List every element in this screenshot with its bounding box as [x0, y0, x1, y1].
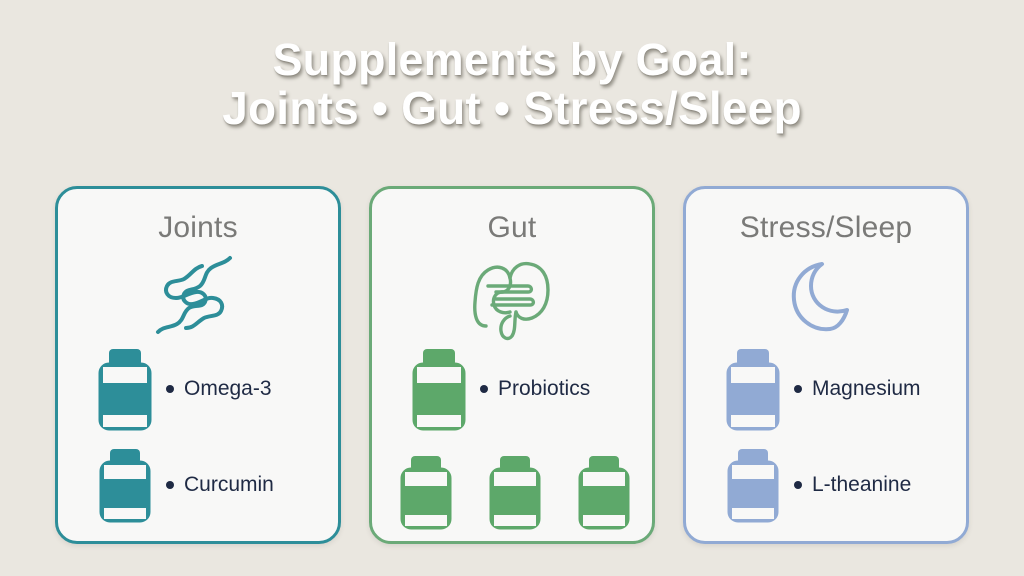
- supplement-bottle-small: [487, 454, 543, 535]
- list-item[interactable]: Probiotics: [404, 341, 630, 437]
- goal-card-gut[interactable]: Gut: [369, 186, 655, 544]
- page-title-line-2: Joints • Gut • Stress/Sleep: [0, 84, 1024, 133]
- goal-cards-row: Joints Omega-3: [0, 186, 1024, 546]
- supplement-label: Probiotics: [480, 377, 590, 401]
- page-title: Supplements by Goal: Joints • Gut • Stre…: [0, 36, 1024, 132]
- supplement-label: Curcumin: [166, 473, 274, 497]
- supplement-name: Omega-3: [184, 377, 272, 401]
- intestine-icon: [372, 251, 652, 343]
- list-item[interactable]: Omega-3: [90, 341, 316, 437]
- page-title-line-1: Supplements by Goal:: [0, 36, 1024, 84]
- bullet-icon: [794, 385, 802, 393]
- bullet-icon: [166, 481, 174, 489]
- card-heading-gut: Gut: [372, 211, 652, 245]
- supplement-bottle-small: [90, 447, 160, 523]
- supplement-list-stress-sleep: Magnesium L-theanine: [718, 341, 944, 533]
- list-item[interactable]: L-theanine: [718, 437, 944, 533]
- list-item[interactable]: Curcumin: [90, 437, 316, 533]
- card-heading-stress-sleep: Stress/Sleep: [686, 211, 966, 245]
- supplement-name: L-theanine: [812, 473, 911, 497]
- supplement-name: Curcumin: [184, 473, 274, 497]
- bullet-icon: [480, 385, 488, 393]
- supplement-label: Magnesium: [794, 377, 921, 401]
- card-heading-joints: Joints: [58, 211, 338, 245]
- supplement-bottle-small: [576, 454, 632, 535]
- goal-card-joints[interactable]: Joints Omega-3: [55, 186, 341, 544]
- supplement-list-joints: Omega-3 Curcumin: [90, 341, 316, 533]
- supplement-label: L-theanine: [794, 473, 911, 497]
- goal-card-stress-sleep[interactable]: Stress/Sleep Magnesium: [683, 186, 969, 544]
- supplement-label: Omega-3: [166, 377, 272, 401]
- supplement-name: Magnesium: [812, 377, 921, 401]
- list-item[interactable]: Magnesium: [718, 341, 944, 437]
- supplement-bottle-large: [718, 347, 788, 431]
- supplement-list-gut: Probiotics: [404, 341, 630, 437]
- extra-bottles-gut: [398, 454, 632, 535]
- supplement-bottle-large: [404, 347, 474, 431]
- supplement-name: Probiotics: [498, 377, 590, 401]
- supplement-bottle-small: [398, 454, 454, 535]
- crescent-moon-icon: [686, 251, 966, 343]
- bullet-icon: [794, 481, 802, 489]
- bullet-icon: [166, 385, 174, 393]
- joint-bone-icon: [58, 251, 338, 343]
- supplement-bottle-large: [90, 347, 160, 431]
- supplement-bottle-small: [718, 447, 788, 523]
